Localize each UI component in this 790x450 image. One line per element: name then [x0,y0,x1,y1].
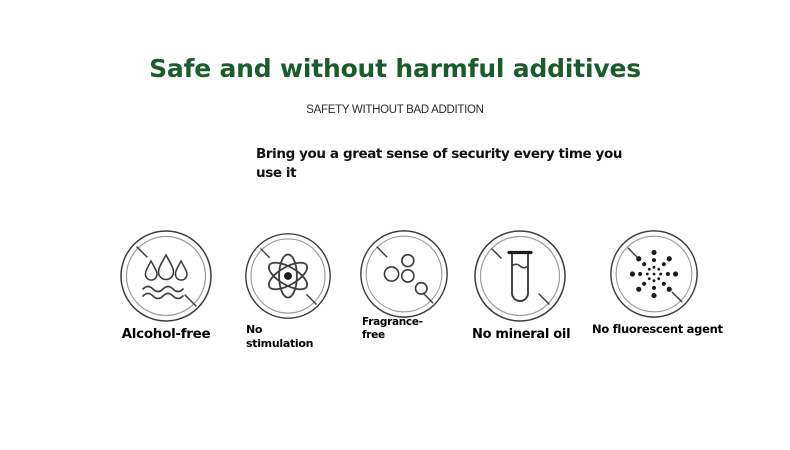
atom-no-stimulation-icon [243,231,333,321]
test-tube-no-mineral-oil-icon [472,228,568,324]
feature-label: Alcohol-free [118,328,214,341]
feature-label-line2: stimulation [246,337,336,351]
feature-label-line1: No [246,323,336,337]
feature-label-line2: free [362,329,452,342]
feature-label: No mineral oil [472,328,568,341]
lead-paragraph: Bring you a great sense of security ever… [256,145,648,183]
sparkle-dots-no-fluorescent-icon [608,228,700,320]
feature-item-no-fluorescent-agent: No fluorescent agent [592,228,716,336]
feature-label-line1: Fragrance- [362,316,452,329]
feature-label: No fluorescent agent [592,323,716,336]
feature-label: No stimulation [240,323,336,351]
water-droplets-no-alcohol-icon [118,228,214,324]
page-subtitle: SAFETY WITHOUT BAD ADDITION [0,104,790,116]
feature-item-no-mineral-oil: No mineral oil [472,228,568,341]
feature-item-alcohol-free: Alcohol-free [118,228,214,341]
page-title: Safe and without harmful additives [0,54,790,83]
feature-label: Fragrance- free [356,316,452,342]
feature-icon-row: Alcohol-free No stimulation [0,228,790,368]
feature-item-fragrance-free: Fragrance- free [356,228,452,342]
feature-item-no-stimulation: No stimulation [240,228,336,351]
promo-banner: Safe and without harmful additives SAFET… [0,0,790,450]
bubbles-fragrance-free-icon [358,228,450,320]
